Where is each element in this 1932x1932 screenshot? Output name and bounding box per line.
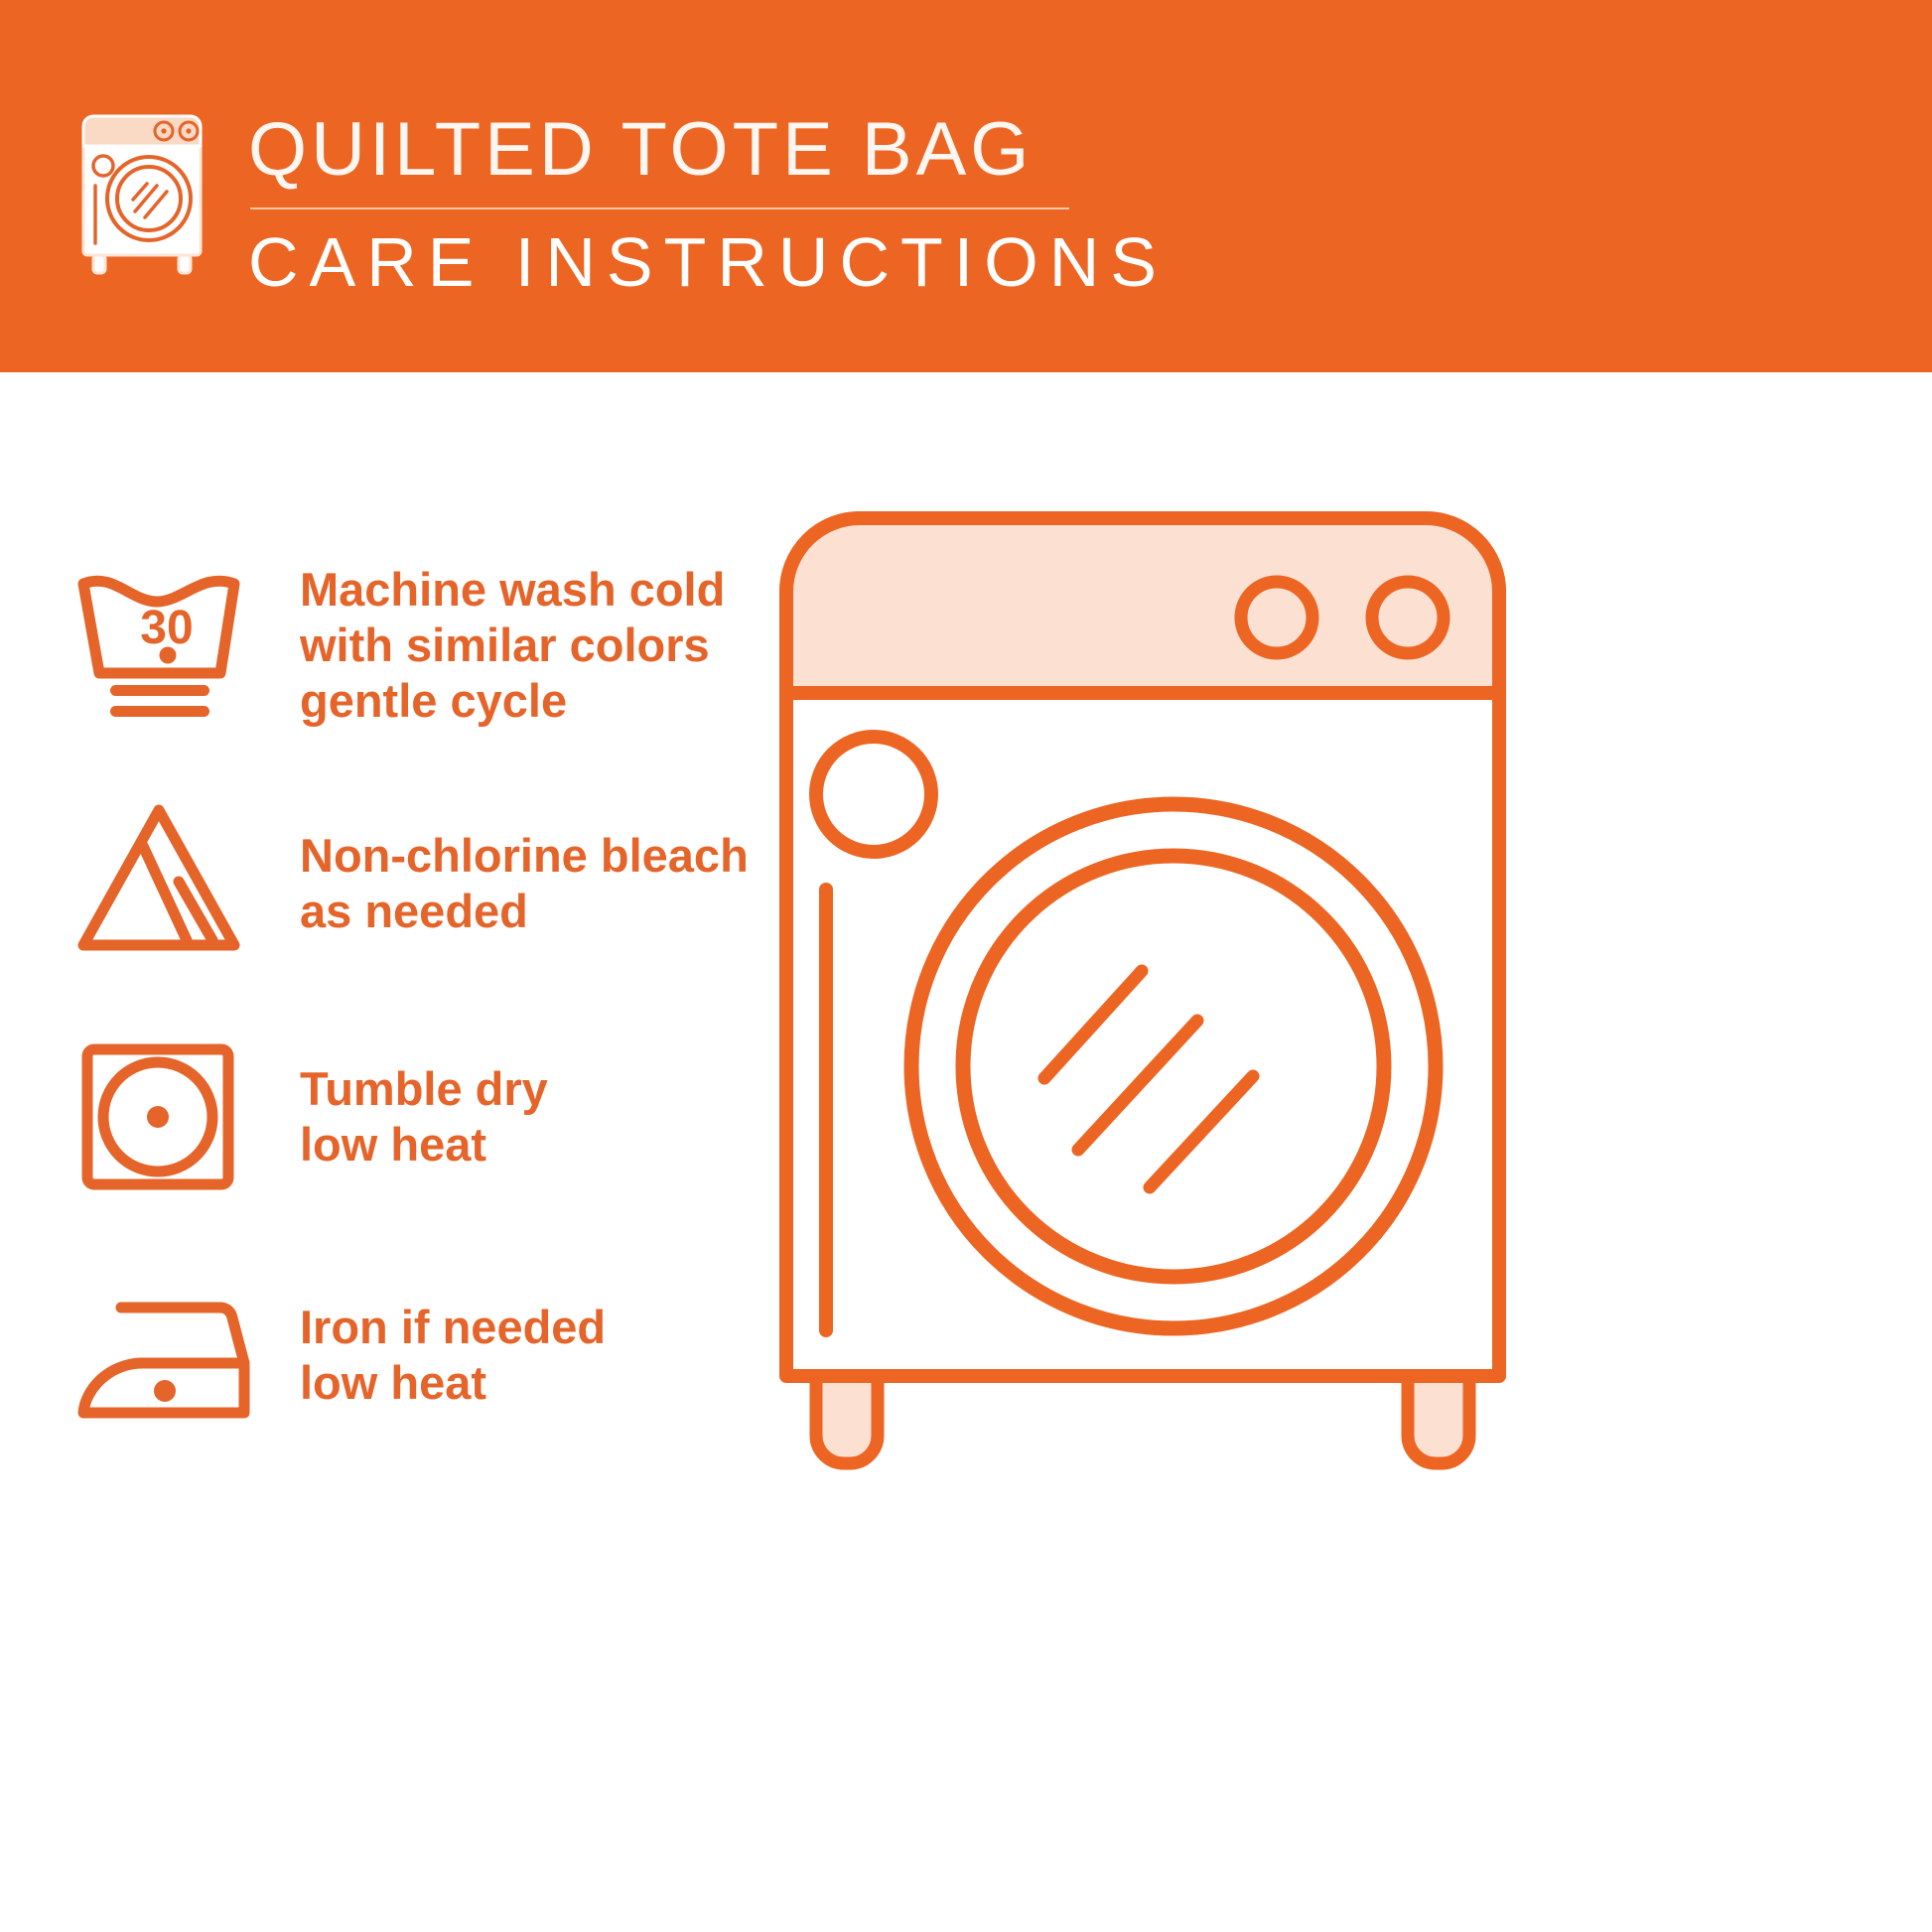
- care-line: Machine wash cold: [300, 562, 725, 618]
- care-instruction-list: 30 Machine wash cold with similar colors…: [0, 372, 894, 1932]
- page-title: QUILTED TOTE BAG: [248, 108, 1168, 192]
- care-item-tumble-dry: Tumble dry low heat: [69, 1018, 864, 1216]
- care-line: Tumble dry: [300, 1061, 548, 1117]
- care-line: Iron if needed: [300, 1300, 606, 1355]
- washer-knob-left[interactable]: [1241, 582, 1312, 653]
- care-item-label: Iron if needed low heat: [300, 1300, 606, 1411]
- care-item-label: Non-chlorine bleach as needed: [300, 828, 749, 939]
- care-line: as needed: [300, 884, 749, 939]
- care-line: Non-chlorine bleach: [300, 828, 749, 884]
- front-load-washing-machine-illustration: [764, 496, 1549, 1489]
- wash-temperature-label: 30: [140, 602, 193, 654]
- washing-machine-icon: [69, 104, 218, 283]
- care-item-label: Machine wash cold with similar colors ge…: [300, 562, 725, 729]
- header-band: QUILTED TOTE BAG CARE INSTRUCTIONS: [0, 0, 1932, 372]
- care-item-machine-wash: 30 Machine wash cold with similar colors…: [69, 546, 864, 745]
- care-line: with similar colors: [300, 618, 725, 673]
- care-line: low heat: [300, 1355, 606, 1411]
- header-title-group: QUILTED TOTE BAG CARE INSTRUCTIONS: [248, 104, 1168, 301]
- wash-tub-30-gentle-icon: 30: [69, 546, 278, 745]
- page-subtitle: CARE INSTRUCTIONS: [248, 223, 1168, 301]
- title-divider: [250, 207, 1069, 209]
- iron-low-heat-icon: [69, 1256, 278, 1454]
- care-item-label: Tumble dry low heat: [300, 1061, 548, 1173]
- header-content: QUILTED TOTE BAG CARE INSTRUCTIONS: [69, 104, 1168, 301]
- care-line: gentle cycle: [300, 673, 725, 729]
- tumble-dry-low-icon: [69, 1018, 278, 1216]
- care-item-bleach: Non-chlorine bleach as needed: [69, 784, 864, 983]
- non-chlorine-bleach-triangle-icon: [69, 784, 278, 983]
- care-line: low heat: [300, 1117, 548, 1173]
- care-item-iron: Iron if needed low heat: [69, 1256, 864, 1454]
- washer-knob-right[interactable]: [1372, 582, 1444, 653]
